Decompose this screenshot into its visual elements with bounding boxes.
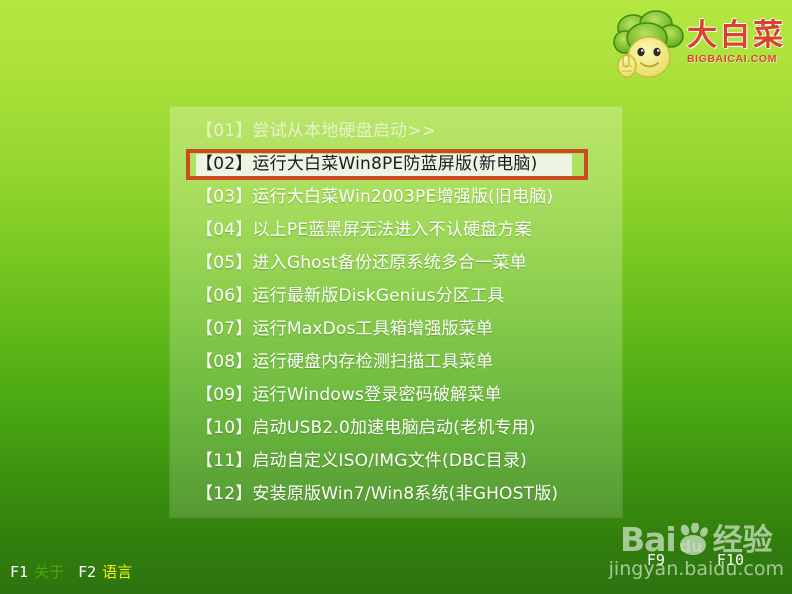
footer-right-hotkeys: F9重启F10关机 [647,549,780,570]
boot-menu-screen: 大白菜 BIGBAICAI.COM 【01】尝试从本地硬盘启动>>【02】运行大… [0,0,792,594]
hotkey-f9[interactable]: F9 [647,551,665,569]
brand-text: 大白菜 BIGBAICAI.COM [687,21,786,69]
menu-item-08[interactable]: 【08】运行硬盘内存检测扫描工具菜单 [170,346,622,379]
boot-menu-panel: 【01】尝试从本地硬盘启动>>【02】运行大白菜Win8PE防蓝屏版(新电脑)【… [170,107,622,517]
hotkey-f10-label[interactable]: 关机 [750,551,780,569]
menu-item-label: 【08】运行硬盘内存检测扫描工具菜单 [196,352,493,372]
menu-item-label: 【09】运行Windows登录密码破解菜单 [196,385,502,405]
brand-name-cn: 大白菜 [687,21,786,51]
menu-item-label: 【11】启动自定义ISO/IMG文件(DBC目录) [196,451,527,471]
menu-item-label: 【04】以上PE蓝黑屏无法进入不认硬盘方案 [196,220,532,240]
menu-item-09[interactable]: 【09】运行Windows登录密码破解菜单 [170,379,622,412]
menu-item-06[interactable]: 【06】运行最新版DiskGenius分区工具 [170,280,622,313]
menu-item-07[interactable]: 【07】运行MaxDos工具箱增强版菜单 [170,313,622,346]
hotkey-f9-label[interactable]: 重启 [671,551,701,569]
hotkey-f1[interactable]: F1 [10,563,28,581]
boot-menu-list: 【01】尝试从本地硬盘启动>>【02】运行大白菜Win8PE防蓝屏版(新电脑)【… [170,107,622,511]
menu-item-01[interactable]: 【01】尝试从本地硬盘启动>> [170,115,622,148]
menu-item-label: 【06】运行最新版DiskGenius分区工具 [196,286,505,306]
menu-item-label: 【03】运行大白菜Win2003PE增强版(旧电脑) [196,187,553,207]
brand-url: BIGBAICAI.COM [687,54,777,65]
menu-item-03[interactable]: 【03】运行大白菜Win2003PE增强版(旧电脑) [170,181,622,214]
menu-item-label: 【05】进入Ghost备份还原系统多合一菜单 [196,253,527,273]
hotkey-f2-label[interactable]: 语言 [102,563,132,581]
menu-item-label: 【01】尝试从本地硬盘启动>> [196,121,436,141]
menu-item-11[interactable]: 【11】启动自定义ISO/IMG文件(DBC目录) [170,445,622,478]
footer-left-hotkeys: F1关于F2语言 [10,561,132,582]
cabbage-mascot-icon [611,8,685,82]
menu-item-12[interactable]: 【12】安装原版Win7/Win8系统(非GHOST版) [170,478,622,511]
menu-item-02[interactable]: 【02】运行大白菜Win8PE防蓝屏版(新电脑) [170,148,622,181]
hotkey-f2[interactable]: F2 [78,563,96,581]
hotkey-f1-label[interactable]: 关于 [34,563,64,581]
menu-item-10[interactable]: 【10】启动USB2.0加速电脑启动(老机专用) [170,412,622,445]
menu-item-label: 【12】安装原版Win7/Win8系统(非GHOST版) [196,484,558,504]
hotkey-f10[interactable]: F10 [717,551,744,569]
menu-item-label: 【02】运行大白菜Win8PE防蓝屏版(新电脑) [196,154,537,174]
brand-logo: 大白菜 BIGBAICAI.COM [610,6,786,84]
menu-item-label: 【07】运行MaxDos工具箱增强版菜单 [196,319,493,339]
menu-item-05[interactable]: 【05】进入Ghost备份还原系统多合一菜单 [170,247,622,280]
menu-item-label: 【10】启动USB2.0加速电脑启动(老机专用) [196,418,536,438]
menu-item-04[interactable]: 【04】以上PE蓝黑屏无法进入不认硬盘方案 [170,214,622,247]
